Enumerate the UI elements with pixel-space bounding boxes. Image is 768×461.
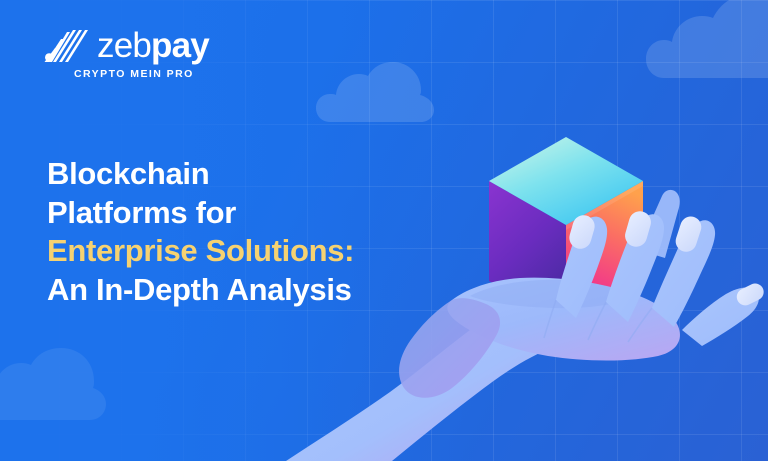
nail-index: [567, 213, 598, 252]
logo-row: zebpay: [44, 28, 209, 63]
logo-word-pay: pay: [151, 26, 209, 65]
logo-wordmark: zebpay: [97, 28, 209, 63]
gradient-cube: [489, 137, 643, 324]
page-title: Blockchain Platforms for Enterprise Solu…: [47, 155, 354, 309]
nail-middle: [622, 209, 653, 250]
headline-line-4: An In-Depth Analysis: [47, 271, 354, 310]
headline-line-2: Platforms for: [47, 194, 354, 233]
zebpay-slashes-logo-icon: [44, 30, 88, 62]
hand: [286, 209, 767, 461]
logo-word-zeb: zeb: [97, 26, 151, 65]
headline-line-3: Enterprise Solutions:: [47, 232, 354, 271]
blog-hero-banner: zebpay CRYPTO MEIN PRO Blockchain Platfo…: [0, 0, 768, 461]
cloud-bottom-left-icon: [0, 348, 106, 422]
hand-back-fingers: [645, 190, 680, 258]
logo-tagline: CRYPTO MEIN PRO: [74, 68, 194, 80]
cloud-top-center-icon: [316, 62, 434, 124]
nail-ring: [673, 214, 704, 255]
nail-pinky: [734, 281, 767, 309]
headline-line-1: Blockchain: [47, 155, 354, 194]
zebpay-logo[interactable]: zebpay CRYPTO MEIN PRO: [44, 28, 209, 80]
cloud-top-right-icon: [646, 0, 768, 80]
